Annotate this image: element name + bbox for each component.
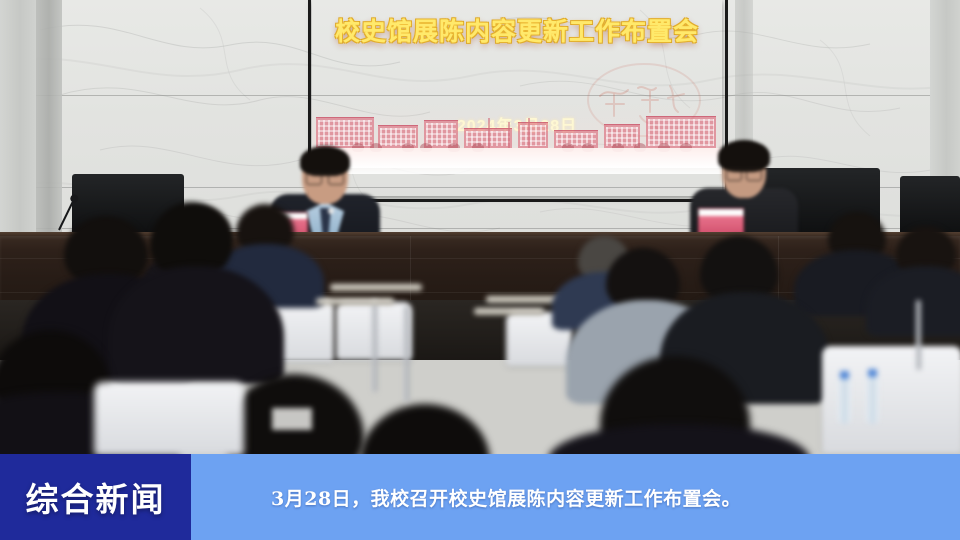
document-paper <box>272 408 312 430</box>
chair-leg <box>916 300 921 370</box>
wall-pillar-left <box>0 0 36 260</box>
desk-arm <box>474 308 544 315</box>
water-bottle <box>866 376 879 424</box>
caption-category-label: 综合新闻 <box>0 454 191 540</box>
chair-leg <box>372 300 377 392</box>
desk-arm <box>330 284 422 291</box>
chair <box>94 382 244 454</box>
water-bottle <box>838 378 851 424</box>
desk-arm <box>316 298 394 305</box>
caption-bar: 综合新闻 3月28日，我校召开校史馆展陈内容更新工作布置会。 <box>0 454 960 540</box>
caption-text: 3月28日，我校召开校史馆展陈内容更新工作布置会。 <box>191 454 960 540</box>
chair-leg <box>404 306 409 402</box>
audience-member <box>360 404 490 454</box>
news-photograph: 校史馆展陈内容更新工作布置会 2024年3月28日 <box>0 0 960 454</box>
news-photo-card: 校史馆展陈内容更新工作布置会 2024年3月28日 <box>0 0 960 540</box>
slide-title: 校史馆展陈内容更新工作布置会 <box>312 12 722 48</box>
audience-member <box>548 424 810 454</box>
